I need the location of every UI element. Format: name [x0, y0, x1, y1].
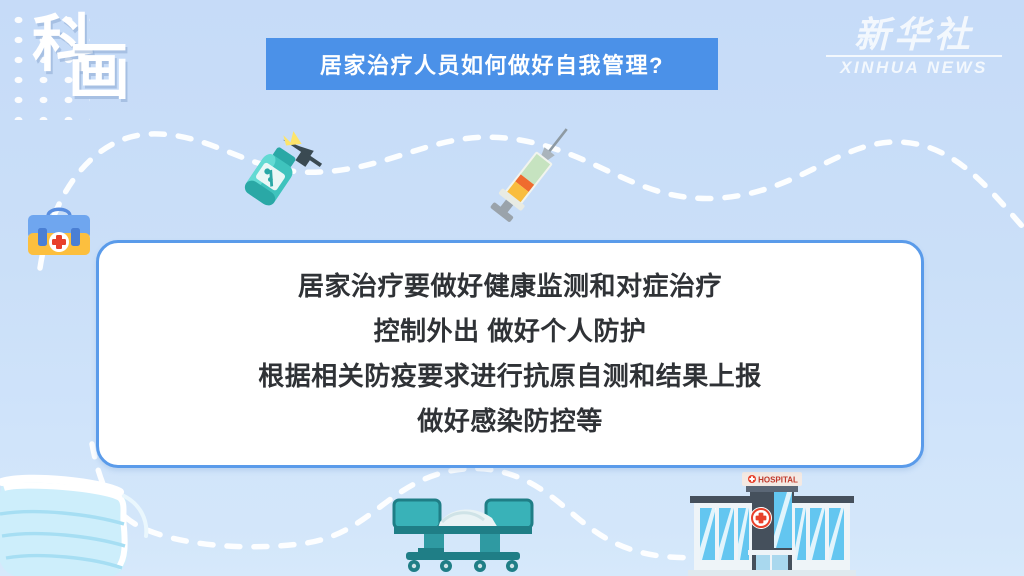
card-line-1: 居家治疗要做好健康监测和对症治疗: [298, 264, 722, 309]
xinhua-logo-cn: 新华社: [826, 16, 1002, 54]
card-line-2: 控制外出 做好个人防护: [374, 309, 647, 354]
medical-kit-icon: [22, 200, 96, 262]
main-content-card: 居家治疗要做好健康监测和对症治疗 控制外出 做好个人防护 根据相关防疫要求进行抗…: [96, 240, 924, 468]
kehua-logo: 科 画: [32, 14, 152, 106]
kehua-logo-char-2: 画: [68, 42, 120, 104]
page-title: 居家治疗人员如何做好自我管理?: [320, 48, 664, 80]
title-banner: 居家治疗人员如何做好自我管理?: [266, 38, 718, 90]
card-line-4: 做好感染防控等: [417, 399, 603, 444]
hospital-building-icon: HOSPITAL: [688, 470, 856, 576]
spray-bottle-icon: [228, 118, 324, 210]
infographic-canvas: 科 画 居家治疗人员如何做好自我管理? 新华社 XINHUA NEWS: [0, 0, 1024, 576]
syringe-icon: [482, 116, 586, 228]
hospital-bed-icon: [380, 492, 546, 574]
face-mask-icon: [0, 478, 150, 576]
hospital-sign-text: HOSPITAL: [758, 475, 798, 484]
xinhua-news-logo: 新华社 XINHUA NEWS: [826, 16, 1002, 78]
xinhua-logo-en: XINHUA NEWS: [826, 55, 1002, 78]
card-line-3: 根据相关防疫要求进行抗原自测和结果上报: [258, 354, 762, 399]
